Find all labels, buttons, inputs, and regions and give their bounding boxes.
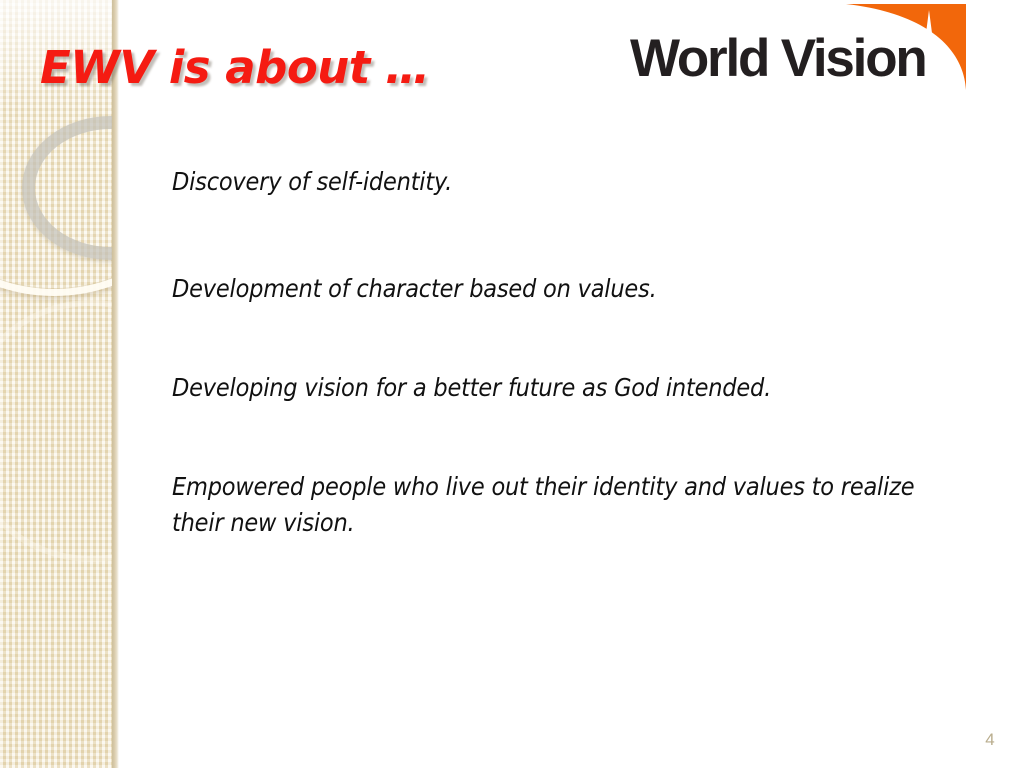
slide-title: EWV is about …: [40, 41, 429, 94]
sidebar-decor-panel: [0, 0, 112, 768]
world-vision-logo: World Vision: [630, 2, 1024, 106]
numbered-list: 1. Discovery of self-identity. 2. Develo…: [0, 0, 1024, 768]
list-item-text: Empowered people who live out their iden…: [172, 469, 962, 541]
page-number: 4: [975, 730, 1005, 750]
list-item-text: Development of character based on values…: [172, 271, 962, 307]
faint-lower-ring-icon: [0, 300, 112, 562]
logo-sail-icon: [846, 4, 966, 90]
list-item-text: Discovery of self-identity.: [172, 164, 962, 200]
list-item-text: Developing vision for a better future as…: [172, 370, 962, 406]
sidebar-panel-edge: [112, 0, 119, 768]
presentation-slide: 1. Discovery of self-identity. 2. Develo…: [0, 0, 1024, 768]
